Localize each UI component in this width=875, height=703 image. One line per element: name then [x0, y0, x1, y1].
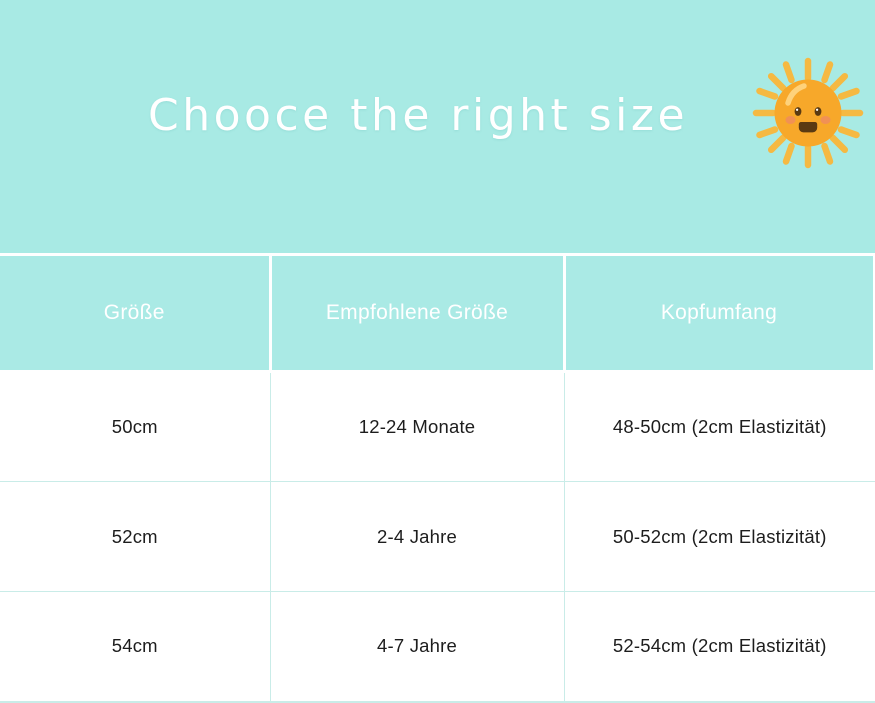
cell-head: 52-54cm (2cm Elastizität)	[564, 592, 875, 702]
column-header-head-circumference: Kopfumfang	[564, 255, 875, 372]
table-row: 50cm 12-24 Monate 48-50cm (2cm Elastizit…	[0, 372, 875, 482]
cell-recommended: 12-24 Monate	[270, 372, 564, 482]
cell-size: 52cm	[0, 482, 270, 592]
table-header-row: Größe Empfohlene Größe Kopfumfang	[0, 255, 875, 372]
cell-head: 50-52cm (2cm Elastizität)	[564, 482, 875, 592]
table-row: 52cm 2-4 Jahre 50-52cm (2cm Elastizität)	[0, 482, 875, 592]
cell-size: 54cm	[0, 592, 270, 702]
cell-recommended: 4-7 Jahre	[270, 592, 564, 702]
size-chart-table: Größe Empfohlene Größe Kopfumfang 50cm 1…	[0, 253, 875, 703]
column-header-size: Größe	[0, 255, 270, 372]
sun-icon	[752, 57, 864, 169]
cell-size: 50cm	[0, 372, 270, 482]
table-row: 54cm 4-7 Jahre 52-54cm (2cm Elastizität)	[0, 592, 875, 702]
header-banner: Chooce the right size	[0, 0, 875, 253]
page-title: Chooce the right size	[148, 90, 688, 141]
column-header-recommended-size: Empfohlene Größe	[270, 255, 564, 372]
cell-recommended: 2-4 Jahre	[270, 482, 564, 592]
cell-head: 48-50cm (2cm Elastizität)	[564, 372, 875, 482]
